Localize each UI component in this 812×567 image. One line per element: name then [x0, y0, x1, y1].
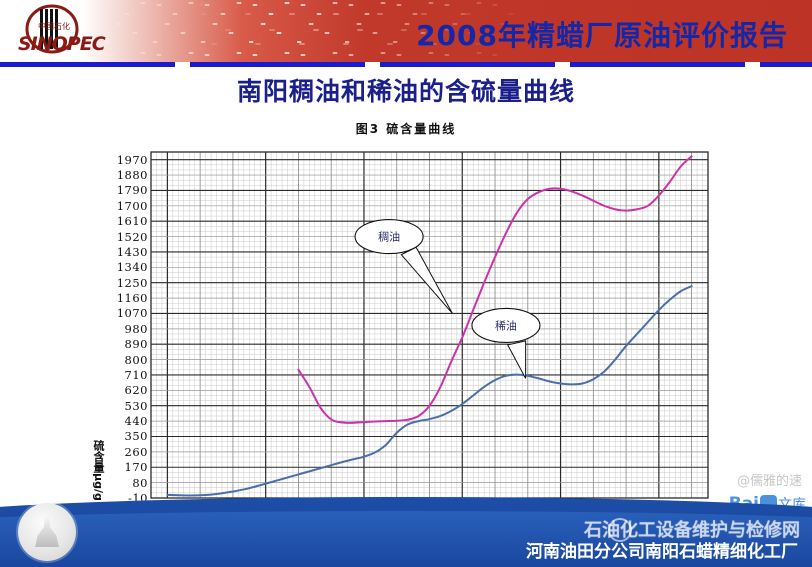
y-tick-label: 1880 [84, 168, 148, 182]
y-tick-label: 530 [84, 399, 148, 413]
y-tick-label: 1520 [84, 230, 148, 244]
report-title: 2008年精蜡厂原油评价报告 [416, 14, 788, 54]
site-watermark: 石油化工设备维护与检修网 [584, 516, 800, 542]
y-tick-label: 1340 [84, 260, 148, 274]
banner-rule-gap-1 [175, 62, 190, 67]
y-tick-label: 1250 [84, 276, 148, 290]
y-tick-label: 1790 [84, 183, 148, 197]
y-tick-label: 980 [84, 322, 148, 336]
chart-title: 图3 硫含量曲线 [0, 120, 812, 137]
y-axis-label: 硫含量μg/g [92, 440, 106, 501]
banner-rule [0, 62, 812, 67]
sinopec-logo-wordmark: SINOPEC [18, 33, 105, 55]
y-tick-label: 710 [84, 368, 148, 382]
y-tick-label: 1610 [84, 214, 148, 228]
banner-rule-gap-2 [365, 62, 380, 67]
footer-badge [18, 503, 76, 561]
y-tick-label: 1430 [84, 245, 148, 259]
callout-label: 稀油 [495, 318, 517, 332]
slide-root: 2008年精蜡厂原油评价报告 中国石化 SINOPEC 南阳稠油和稀油的含硫量曲… [0, 0, 812, 567]
y-tick-label: 1070 [84, 306, 148, 320]
banner-rule-gap-4 [745, 62, 760, 67]
y-tick-label: 800 [84, 353, 148, 367]
sinopec-logo-chinese: 中国石化 [38, 21, 70, 32]
y-tick-label: 890 [84, 337, 148, 351]
y-tick-label: 1700 [84, 199, 148, 213]
callout-label: 稠油 [378, 230, 400, 244]
footer-badge-icon [34, 517, 60, 547]
y-tick-label: 620 [84, 383, 148, 397]
sinopec-logo: 中国石化 SINOPEC [8, 3, 100, 61]
top-banner: 2008年精蜡厂原油评价报告 [0, 0, 812, 62]
y-tick-label: 1970 [84, 153, 148, 167]
y-tick-label: 440 [84, 414, 148, 428]
y-tick-label: 1160 [84, 291, 148, 305]
user-watermark: @儒雅的速 [737, 470, 802, 489]
page-title: 南阳稠油和稀油的含硫量曲线 [0, 72, 812, 108]
chart-plot-area: -108017026035044053062071080089098010701… [0, 140, 812, 515]
banner-rule-gap-3 [555, 62, 570, 67]
